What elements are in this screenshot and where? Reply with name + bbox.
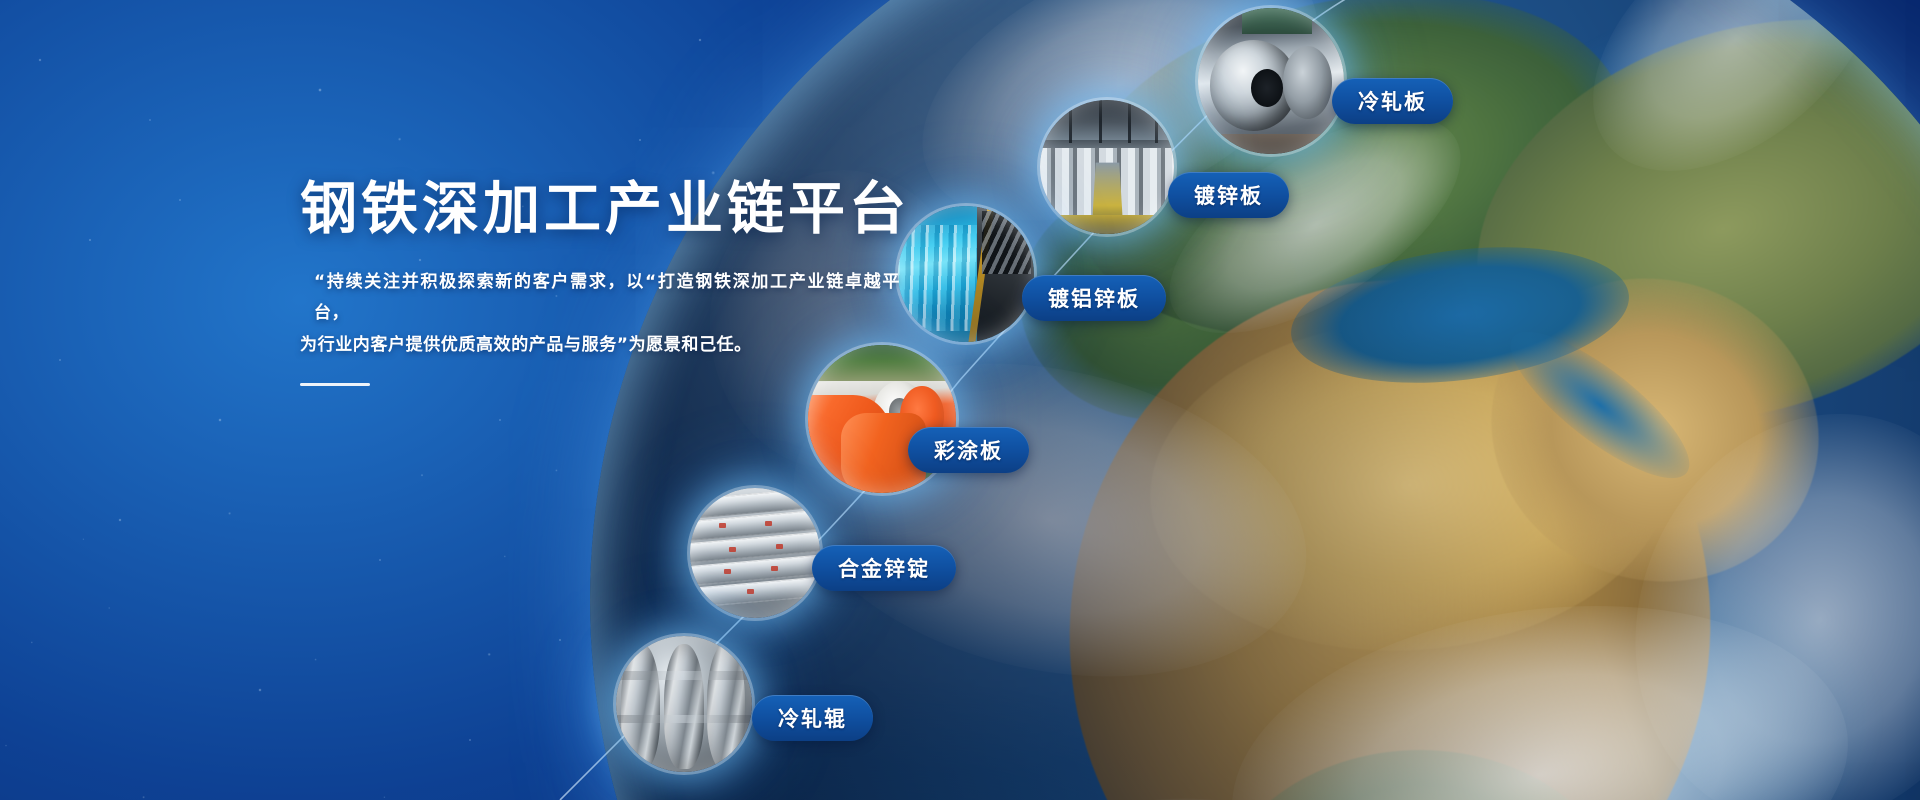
aluzinc-coil-line-photo[interactable] [898,206,1034,342]
node-label-zinc-alloy-ingot[interactable]: 合金锌锭 [812,545,956,591]
hero-subtitle: “持续关注并积极探索新的客户需求，以“打造钢铁深加工产业链卓越平台， 为行业内客… [300,267,900,361]
zinc-alloy-ingots-photo[interactable] [690,488,820,618]
node-label-color-coated-plate[interactable]: 彩涂板 [908,427,1029,473]
node-label-aluzinc-plate[interactable]: 镀铝锌板 [1022,275,1166,321]
page-title: 钢铁深加工产业链平台 [300,178,900,241]
node-label-galvanized-plate[interactable]: 镀锌板 [1168,172,1289,218]
node-label-cold-rolled-plate[interactable]: 冷轧板 [1332,78,1453,124]
chain-connector-path [0,0,1920,800]
node-label-cold-rolling-roll[interactable]: 冷轧辊 [752,695,873,741]
hero-subtitle-line-1: “持续关注并积极探索新的客户需求，以“打造钢铁深加工产业链卓越平台， [300,267,900,330]
cold-rolled-steel-coils-photo[interactable] [1198,8,1344,154]
title-underline-rule [300,383,370,386]
hero-subtitle-line-2: 为行业内客户提供优质高效的产品与服务”为愿景和己任。 [300,330,900,361]
cold-rolling-rolls-photo[interactable] [616,636,752,772]
hero-banner: 冷轧板 镀锌板 镀铝锌板 彩涂板 [0,0,1920,800]
hero-text-block: 钢铁深加工产业链平台 “持续关注并积极探索新的客户需求，以“打造钢铁深加工产业链… [300,178,900,386]
galvanized-warehouse-photo[interactable] [1040,100,1174,234]
